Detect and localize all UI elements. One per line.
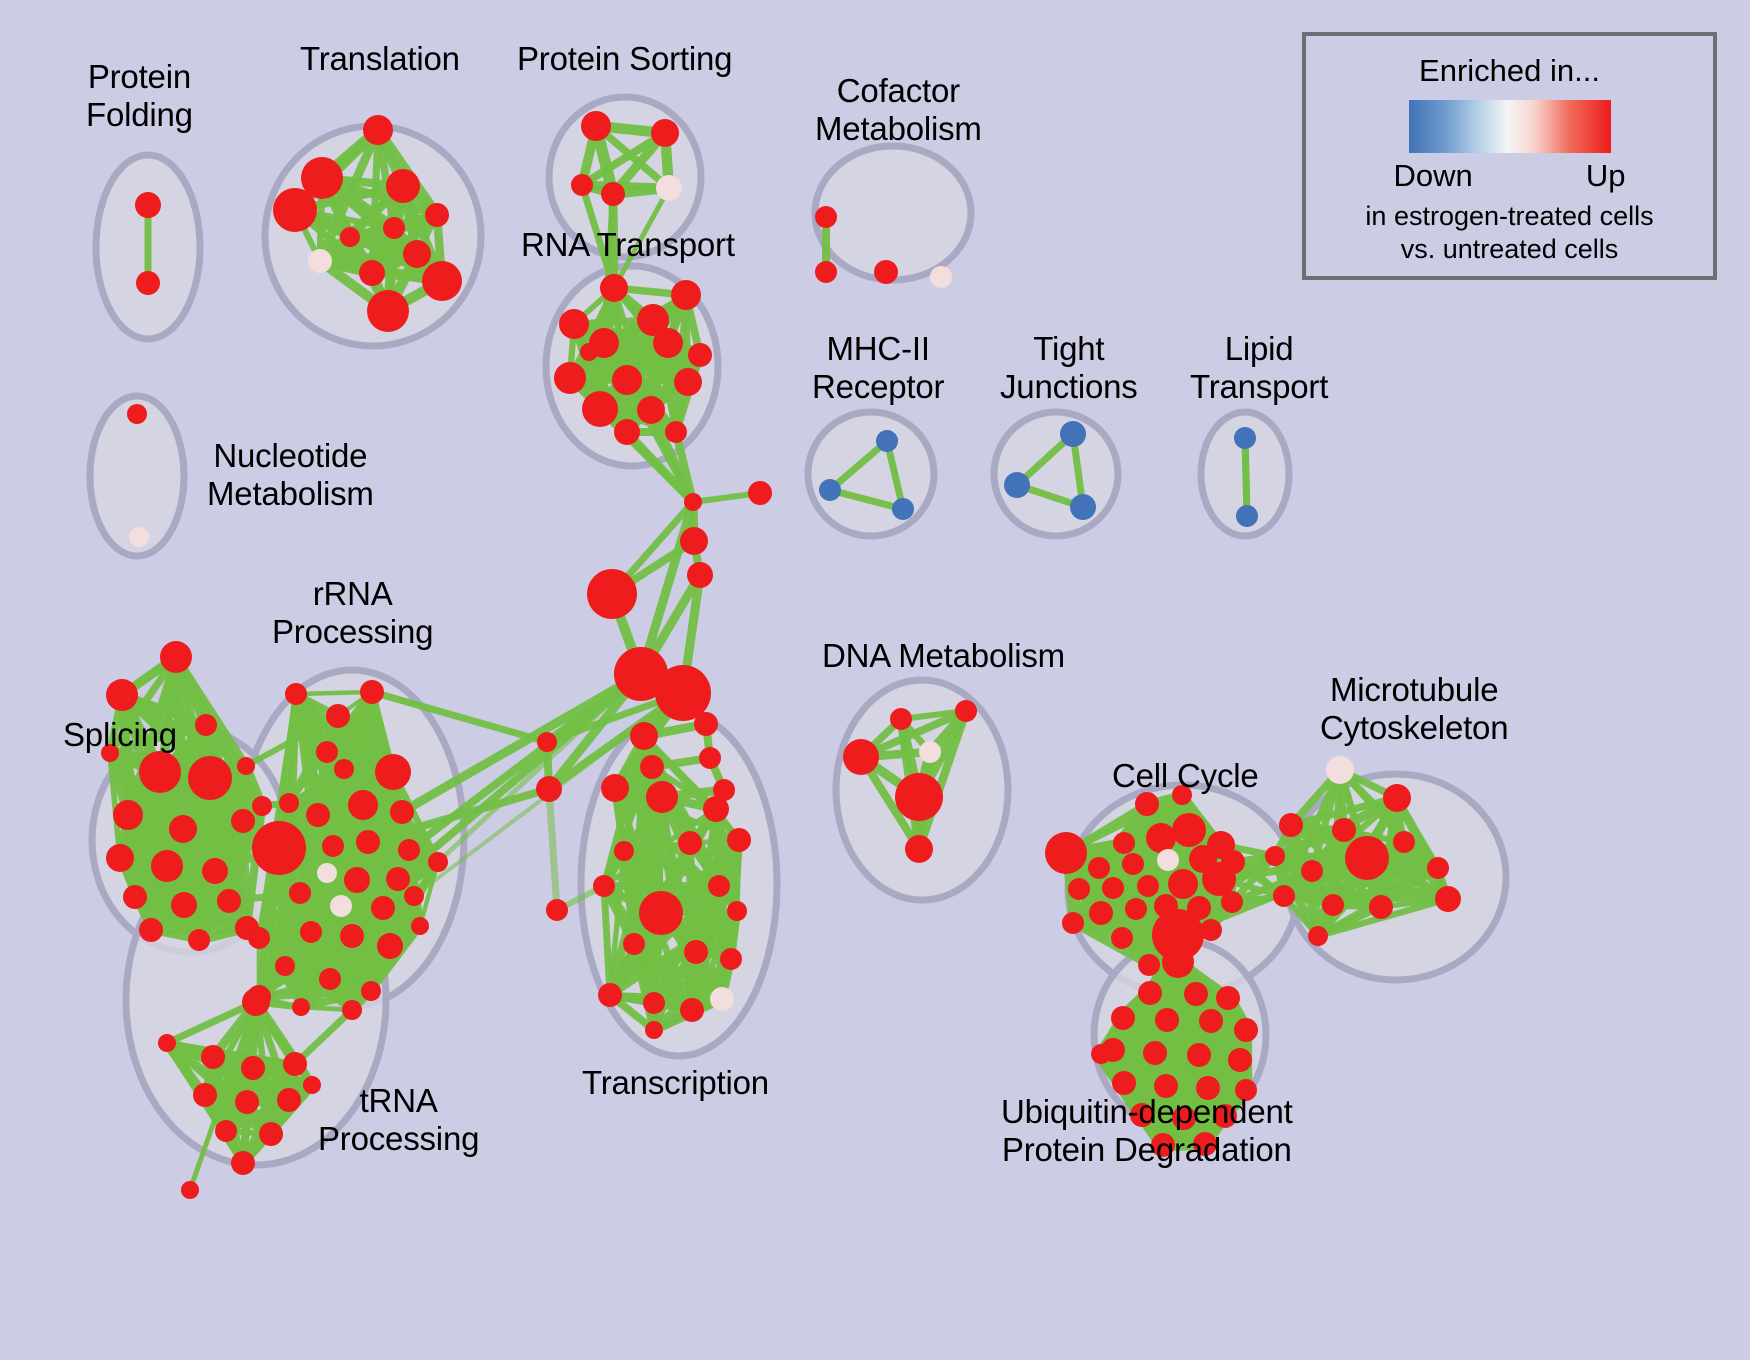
network-node[interactable] <box>688 343 712 367</box>
network-node[interactable] <box>1236 505 1258 527</box>
network-node[interactable] <box>123 885 147 909</box>
network-node[interactable] <box>1199 1009 1223 1033</box>
network-node[interactable] <box>665 421 687 443</box>
network-node[interactable] <box>653 328 683 358</box>
network-node[interactable] <box>546 899 568 921</box>
network-node[interactable] <box>160 641 192 673</box>
network-node[interactable] <box>656 175 682 201</box>
network-node[interactable] <box>231 809 255 833</box>
network-node[interactable] <box>158 1034 176 1052</box>
legend-caption-line1: in estrogen-treated cells <box>1365 201 1653 232</box>
network-node[interactable] <box>317 863 337 883</box>
network-node[interactable] <box>1146 823 1176 853</box>
network-node[interactable] <box>1265 846 1285 866</box>
network-node[interactable] <box>279 793 299 813</box>
edge <box>1245 438 1247 516</box>
network-node[interactable] <box>680 998 704 1022</box>
network-node[interactable] <box>316 741 338 763</box>
legend-low-label: Down <box>1394 159 1473 193</box>
network-node[interactable] <box>554 362 586 394</box>
network-node[interactable] <box>600 274 628 302</box>
network-node[interactable] <box>727 828 751 852</box>
network-node[interactable] <box>1172 813 1206 847</box>
network-node[interactable] <box>687 562 713 588</box>
network-node[interactable] <box>386 169 420 203</box>
network-node[interactable] <box>623 933 645 955</box>
network-node[interactable] <box>930 266 952 288</box>
network-node[interactable] <box>386 867 410 891</box>
network-node[interactable] <box>342 1000 362 1020</box>
network-node[interactable] <box>319 968 341 990</box>
network-node[interactable] <box>1200 919 1222 941</box>
network-node[interactable] <box>1068 878 1090 900</box>
network-node[interactable] <box>1155 1008 1179 1032</box>
network-node[interactable] <box>340 924 364 948</box>
cluster-label-splicing: Splicing <box>63 716 177 754</box>
network-node[interactable] <box>1045 832 1087 874</box>
network-node[interactable] <box>593 875 615 897</box>
network-node[interactable] <box>1273 885 1295 907</box>
network-node[interactable] <box>326 704 350 728</box>
network-node[interactable] <box>403 240 431 268</box>
cluster-label-trna-processing: tRNA Processing <box>318 1082 479 1158</box>
network-node[interactable] <box>1089 901 1113 925</box>
network-node[interactable] <box>1168 869 1198 899</box>
network-node[interactable] <box>1125 898 1147 920</box>
network-node[interactable] <box>1112 1071 1136 1095</box>
network-node[interactable] <box>242 988 270 1016</box>
cluster-ellipse-mhc-ii-receptor <box>808 412 934 536</box>
network-node[interactable] <box>330 895 352 917</box>
network-node[interactable] <box>375 754 411 790</box>
network-node[interactable] <box>235 1090 259 1114</box>
network-node[interactable] <box>1113 832 1135 854</box>
network-node[interactable] <box>129 527 149 547</box>
network-node[interactable] <box>1383 784 1411 812</box>
network-node[interactable] <box>308 249 332 273</box>
network-node[interactable] <box>1143 1041 1167 1065</box>
network-node[interactable] <box>169 815 197 843</box>
network-node[interactable] <box>536 776 562 802</box>
cluster-label-cell-cycle: Cell Cycle <box>1112 757 1259 795</box>
network-node[interactable] <box>630 722 658 750</box>
network-node[interactable] <box>637 396 665 424</box>
cluster-label-rrna-processing: rRNA Processing <box>272 575 433 651</box>
network-node[interactable] <box>231 1151 255 1175</box>
network-node[interactable] <box>612 365 642 395</box>
edge <box>549 789 557 910</box>
network-node[interactable] <box>1138 981 1162 1005</box>
network-node[interactable] <box>1369 895 1393 919</box>
network-node[interactable] <box>614 419 640 445</box>
network-node[interactable] <box>383 217 405 239</box>
network-node[interactable] <box>248 927 270 949</box>
network-node[interactable] <box>694 712 718 736</box>
network-node[interactable] <box>113 800 143 830</box>
network-node[interactable] <box>252 821 306 875</box>
cluster-label-translation: Translation <box>300 40 460 78</box>
network-node[interactable] <box>1308 926 1328 946</box>
network-node[interactable] <box>1228 1048 1252 1072</box>
network-node[interactable] <box>651 119 679 147</box>
network-node[interactable] <box>1070 494 1096 520</box>
network-node[interactable] <box>748 481 772 505</box>
cluster-label-protein-folding: Protein Folding <box>86 58 193 134</box>
network-node[interactable] <box>1062 912 1084 934</box>
network-node[interactable] <box>422 261 462 301</box>
network-node[interactable] <box>708 875 730 897</box>
network-node[interactable] <box>1162 946 1194 978</box>
network-node[interactable] <box>171 892 197 918</box>
network-node[interactable] <box>390 800 414 824</box>
network-node[interactable] <box>241 1056 265 1080</box>
legend-box: Enriched in... Down Up in estrogen-treat… <box>1302 32 1717 280</box>
network-node[interactable] <box>1137 875 1159 897</box>
network-node[interactable] <box>1234 427 1256 449</box>
network-node[interactable] <box>671 280 701 310</box>
network-node[interactable] <box>819 479 841 501</box>
cluster-label-nucleotide-metabolism: Nucleotide Metabolism <box>207 437 374 513</box>
network-node[interactable] <box>193 1083 217 1107</box>
network-node[interactable] <box>1332 818 1356 842</box>
network-node[interactable] <box>1091 1044 1111 1064</box>
network-node[interactable] <box>571 174 593 196</box>
network-node[interactable] <box>1202 862 1236 896</box>
network-node[interactable] <box>283 1052 307 1076</box>
network-node[interactable] <box>1345 836 1389 880</box>
network-node[interactable] <box>371 896 395 920</box>
network-node[interactable] <box>1138 954 1160 976</box>
network-node[interactable] <box>639 891 683 935</box>
network-node[interactable] <box>1221 891 1243 913</box>
network-node[interactable] <box>1004 472 1030 498</box>
network-node[interactable] <box>640 755 664 779</box>
network-node[interactable] <box>1060 421 1086 447</box>
cluster-label-ubiquitin-protein-degradation: Ubiquitin-dependent Protein Degradation <box>1001 1093 1293 1169</box>
network-node[interactable] <box>201 1045 225 1069</box>
network-node[interactable] <box>601 182 625 206</box>
network-node[interactable] <box>684 493 702 511</box>
network-node[interactable] <box>1088 857 1110 879</box>
network-node[interactable] <box>1279 813 1303 837</box>
network-node[interactable] <box>892 498 914 520</box>
network-node[interactable] <box>680 527 708 555</box>
cluster-label-tight-junctions: Tight Junctions <box>1000 330 1138 406</box>
network-node[interactable] <box>643 992 665 1014</box>
network-node[interactable] <box>614 841 634 861</box>
network-node[interactable] <box>905 835 933 863</box>
network-node[interactable] <box>601 774 629 802</box>
network-node[interactable] <box>289 882 311 904</box>
network-node[interactable] <box>217 889 241 913</box>
network-node[interactable] <box>580 343 598 361</box>
network-node[interactable] <box>815 261 837 283</box>
network-node[interactable] <box>322 835 344 857</box>
cluster-label-transcription: Transcription <box>582 1064 769 1102</box>
network-node[interactable] <box>1122 853 1144 875</box>
network-node[interactable] <box>674 368 702 396</box>
legend-title: Enriched in... <box>1419 54 1600 88</box>
network-node[interactable] <box>215 1120 237 1142</box>
network-node[interactable] <box>139 918 163 942</box>
network-node[interactable] <box>188 756 232 800</box>
network-node[interactable] <box>645 1021 663 1039</box>
network-node[interactable] <box>428 852 448 872</box>
network-node[interactable] <box>361 981 381 1001</box>
legend-high-label: Up <box>1586 159 1626 193</box>
network-node[interactable] <box>713 779 735 801</box>
network-node[interactable] <box>252 796 272 816</box>
network-node[interactable] <box>919 741 941 763</box>
network-node[interactable] <box>582 391 618 427</box>
network-node[interactable] <box>202 858 228 884</box>
network-figure: Protein FoldingTranslationProtein Sortin… <box>0 0 1750 1360</box>
network-node[interactable] <box>1187 1043 1211 1067</box>
network-node[interactable] <box>334 759 354 779</box>
network-node[interactable] <box>106 844 134 872</box>
network-node[interactable] <box>646 781 678 813</box>
network-node[interactable] <box>259 1122 283 1146</box>
network-node[interactable] <box>684 940 708 964</box>
network-node[interactable] <box>425 203 449 227</box>
edge <box>1284 896 1448 899</box>
network-node[interactable] <box>340 227 360 247</box>
network-node[interactable] <box>356 830 380 854</box>
legend-colorbar <box>1409 100 1611 153</box>
cluster-label-microtubule-cytoskeleton: Microtubule Cytoskeleton <box>1320 671 1508 747</box>
network-node[interactable] <box>360 680 384 704</box>
network-node[interactable] <box>237 757 255 775</box>
network-node[interactable] <box>151 850 183 882</box>
network-node[interactable] <box>1111 1006 1135 1030</box>
network-node[interactable] <box>300 921 322 943</box>
network-node[interactable] <box>895 773 943 821</box>
network-node[interactable] <box>587 569 637 619</box>
network-node[interactable] <box>727 901 747 921</box>
network-node[interactable] <box>181 1181 199 1199</box>
cluster-label-protein-sorting: Protein Sorting <box>517 40 732 78</box>
network-node[interactable] <box>537 732 557 752</box>
cluster-label-rna-transport: RNA Transport <box>521 226 735 264</box>
network-node[interactable] <box>720 948 742 970</box>
network-node[interactable] <box>890 708 912 730</box>
network-node[interactable] <box>598 983 622 1007</box>
network-node[interactable] <box>874 260 898 284</box>
network-node[interactable] <box>398 839 420 861</box>
network-node[interactable] <box>876 430 898 452</box>
network-node[interactable] <box>285 683 307 705</box>
network-node[interactable] <box>1184 982 1208 1006</box>
network-node[interactable] <box>139 751 181 793</box>
network-node[interactable] <box>135 192 161 218</box>
legend-caption-line2: vs. untreated cells <box>1401 234 1619 265</box>
network-node[interactable] <box>127 404 147 424</box>
network-node[interactable] <box>292 998 310 1016</box>
network-node[interactable] <box>188 929 210 951</box>
network-node[interactable] <box>363 115 393 145</box>
cluster-label-lipid-transport: Lipid Transport <box>1190 330 1328 406</box>
network-node[interactable] <box>411 917 429 935</box>
network-node[interactable] <box>344 867 370 893</box>
network-node[interactable] <box>559 309 589 339</box>
cluster-label-cofactor-metabolism: Cofactor Metabolism <box>815 72 982 148</box>
network-node[interactable] <box>348 790 378 820</box>
network-node[interactable] <box>367 290 409 332</box>
network-node[interactable] <box>1135 792 1159 816</box>
network-node[interactable] <box>1102 877 1124 899</box>
cluster-label-mhc-ii-receptor: MHC-II Receptor <box>812 330 944 406</box>
network-node[interactable] <box>106 679 138 711</box>
network-node[interactable] <box>955 700 977 722</box>
network-node[interactable] <box>1393 831 1415 853</box>
network-node[interactable] <box>277 1088 301 1112</box>
network-node[interactable] <box>678 831 702 855</box>
network-node[interactable] <box>1326 756 1354 784</box>
network-node[interactable] <box>1234 1018 1258 1042</box>
network-node[interactable] <box>306 803 330 827</box>
network-node[interactable] <box>843 739 879 775</box>
network-node[interactable] <box>273 188 317 232</box>
network-node[interactable] <box>377 933 403 959</box>
network-node[interactable] <box>581 111 611 141</box>
network-node[interactable] <box>710 987 734 1011</box>
network-node[interactable] <box>1301 860 1323 882</box>
network-node[interactable] <box>1435 886 1461 912</box>
network-node[interactable] <box>815 206 837 228</box>
cluster-label-dna-metabolism: DNA Metabolism <box>822 637 1065 675</box>
network-node[interactable] <box>1157 849 1179 871</box>
network-node[interactable] <box>275 956 295 976</box>
cluster-ellipse-cofactor-metabolism <box>815 146 971 280</box>
network-node[interactable] <box>136 271 160 295</box>
network-node[interactable] <box>699 747 721 769</box>
network-node[interactable] <box>359 260 385 286</box>
network-node[interactable] <box>1111 927 1133 949</box>
network-node[interactable] <box>195 714 217 736</box>
network-node[interactable] <box>1322 894 1344 916</box>
legend-endpoints: Down Up <box>1394 159 1626 193</box>
network-node[interactable] <box>1216 986 1240 1010</box>
network-node[interactable] <box>404 886 424 906</box>
network-node[interactable] <box>1427 857 1449 879</box>
